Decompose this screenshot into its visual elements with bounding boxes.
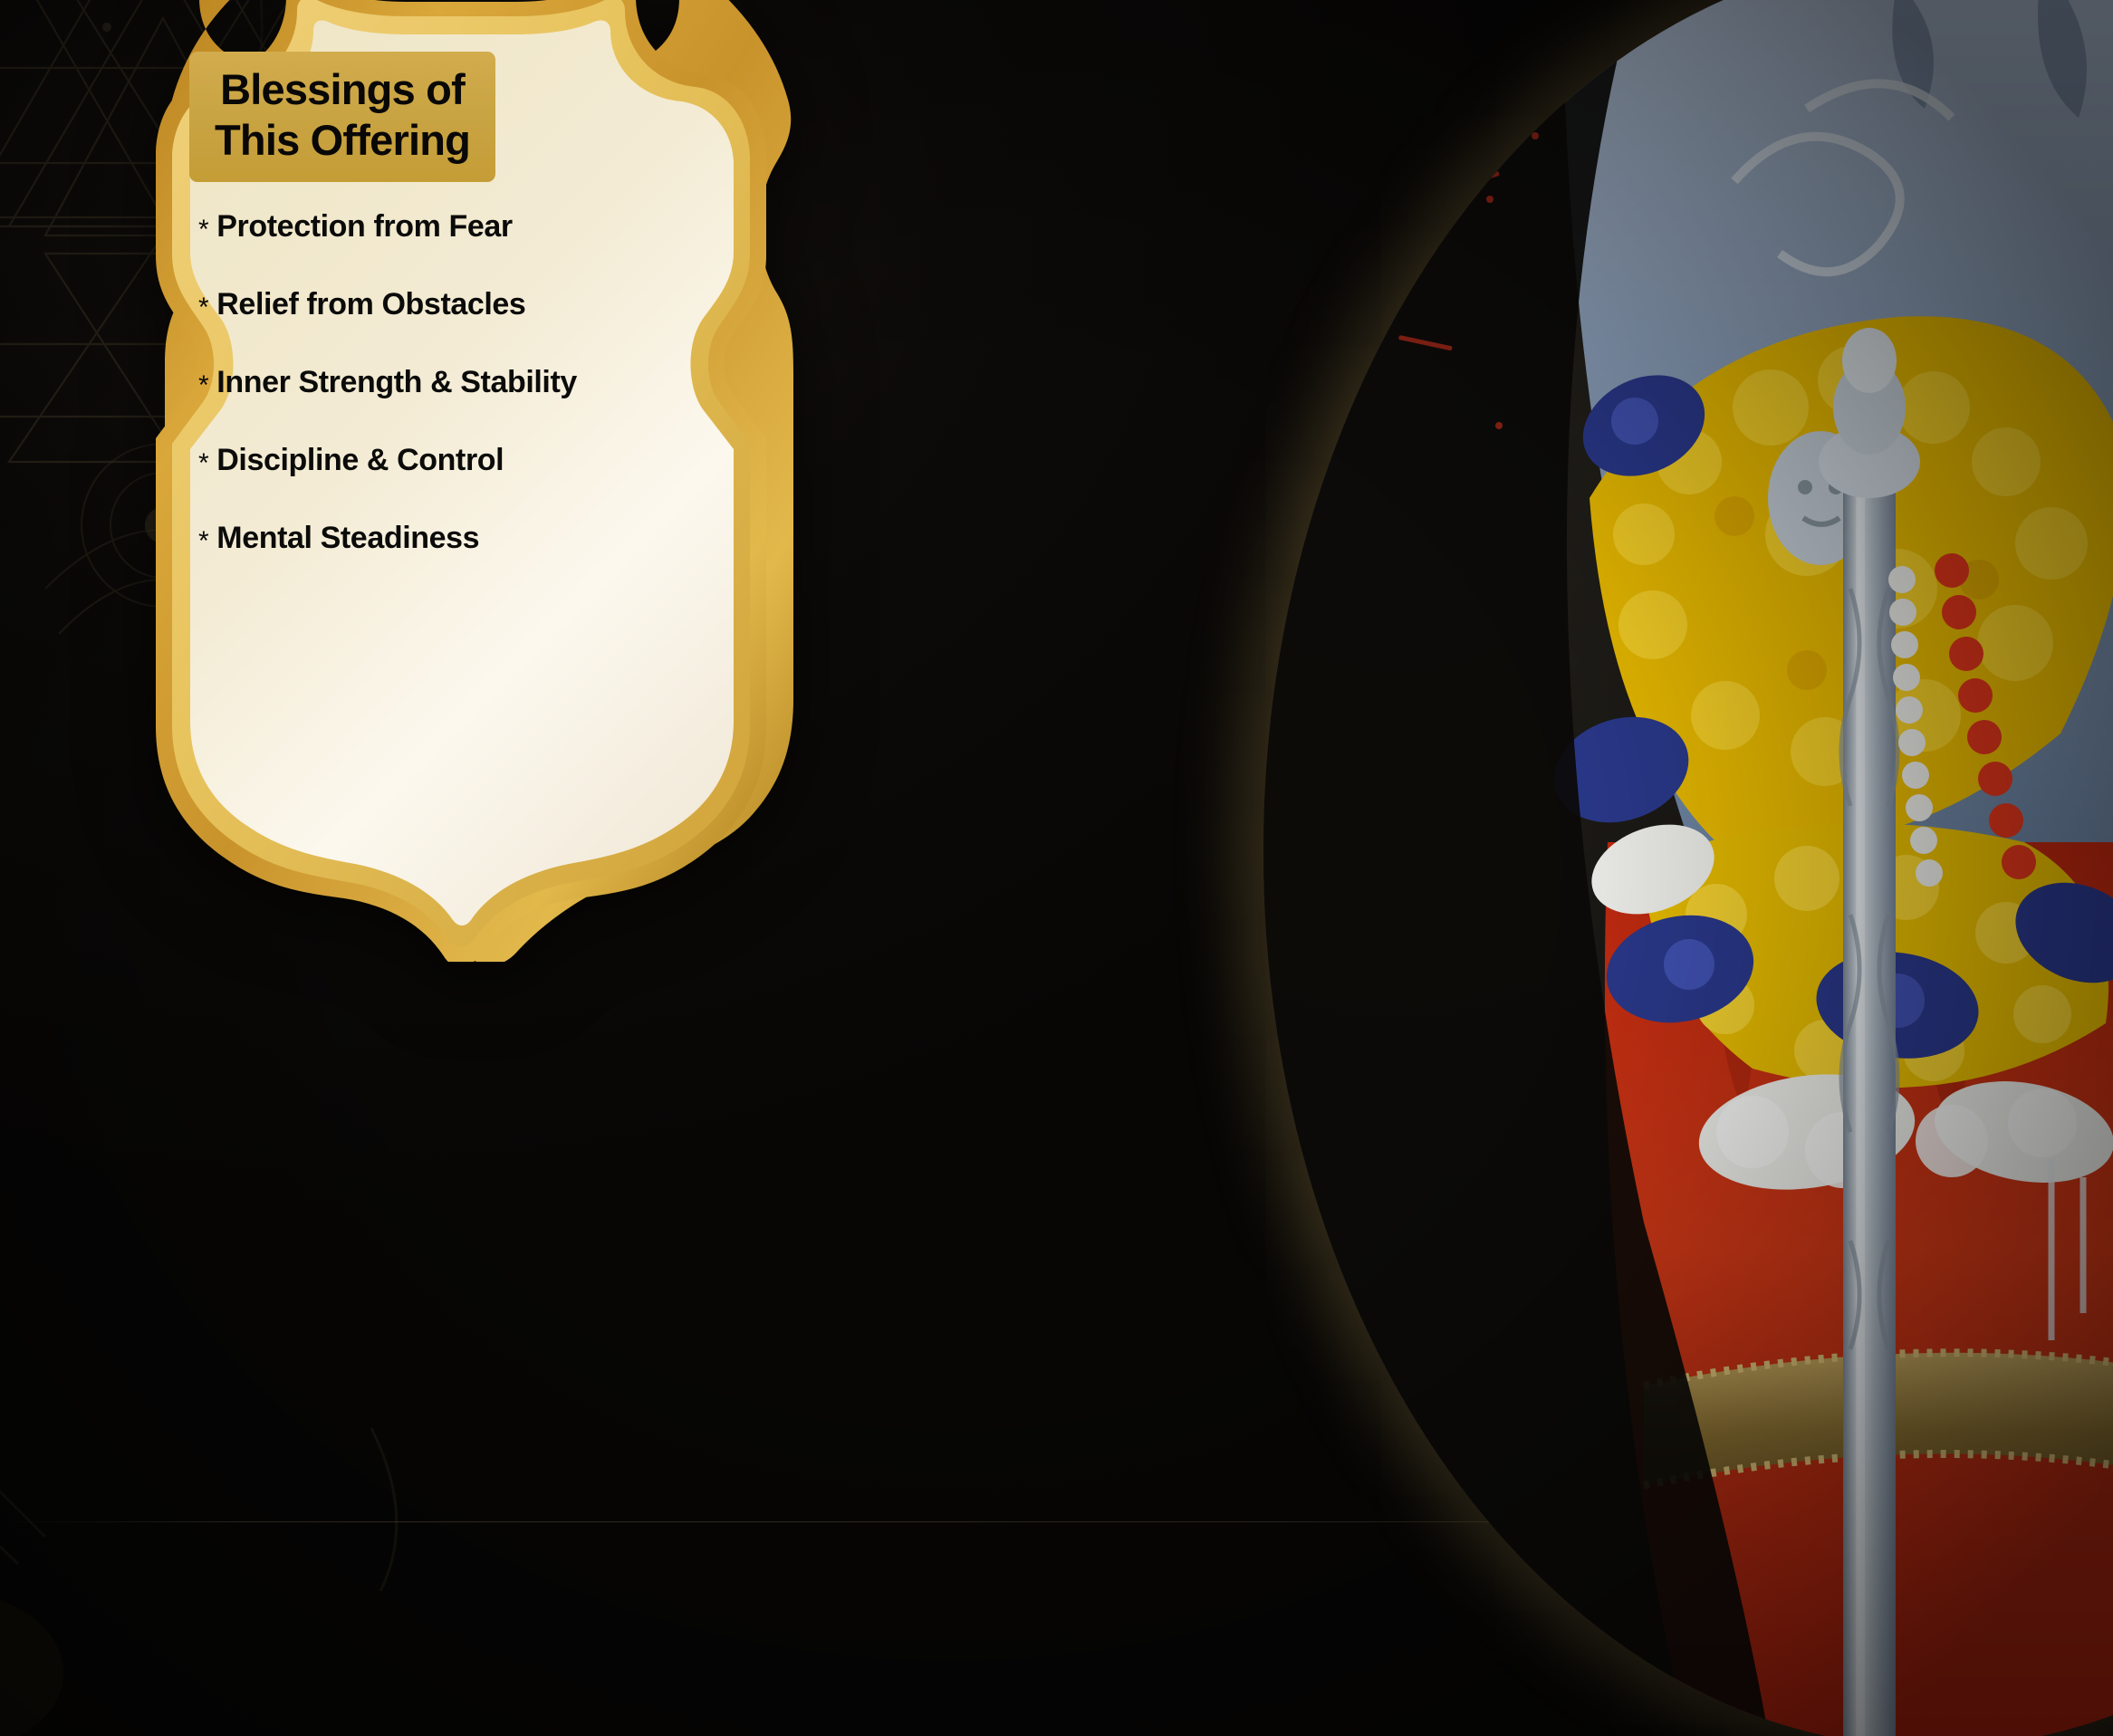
list-item: * Relief from Obstacles — [198, 287, 693, 322]
asterisk-bullet-icon: * — [198, 216, 208, 244]
list-item: * Inner Strength & Stability — [198, 365, 693, 400]
list-item: * Protection from Fear — [198, 209, 693, 245]
title-line-1: Blessings of — [215, 64, 470, 115]
blessings-list: * Protection from Fear * Relief from Obs… — [186, 209, 693, 556]
blessing-label: Relief from Obstacles — [216, 287, 525, 322]
title-badge: Blessings of This Offering — [189, 52, 495, 182]
asterisk-bullet-icon: * — [198, 450, 208, 477]
list-item: * Mental Steadiness — [198, 521, 693, 556]
asterisk-bullet-icon: * — [198, 372, 208, 399]
list-item: * Discipline & Control — [198, 443, 693, 478]
poster-canvas: Blessings of This Offering * Protection … — [0, 0, 2113, 1736]
blessing-label: Protection from Fear — [216, 209, 512, 245]
title-line-2: This Offering — [215, 115, 470, 166]
blessings-card: Blessings of This Offering * Protection … — [63, 0, 815, 962]
blessing-label: Discipline & Control — [216, 443, 504, 478]
asterisk-bullet-icon: * — [198, 294, 208, 321]
blessing-label: Inner Strength & Stability — [216, 365, 577, 400]
card-content: Blessings of This Offering * Protection … — [186, 52, 693, 849]
blessing-label: Mental Steadiness — [216, 521, 479, 556]
deity-photo-circle — [1263, 0, 2113, 1736]
asterisk-bullet-icon: * — [198, 528, 208, 555]
